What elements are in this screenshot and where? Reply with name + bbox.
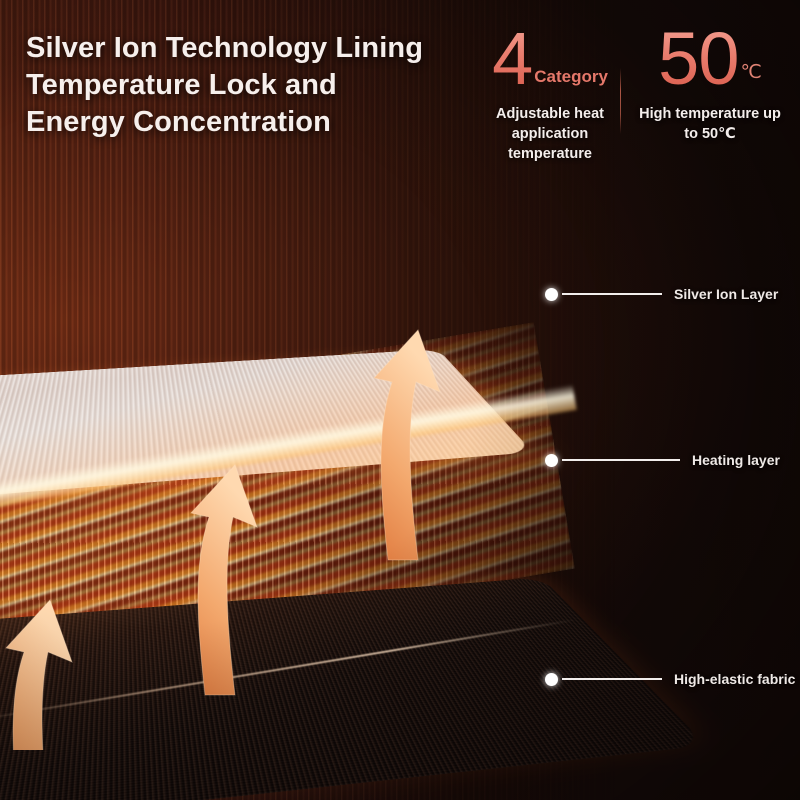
callout-leader-line [562, 293, 662, 295]
stat-suffix: ℃ [740, 61, 761, 84]
callout-high-elastic-fabric: High-elastic fabric [545, 671, 795, 687]
stats-divider [620, 68, 621, 134]
stat-block-temperature: 50 ℃ High temperature up to 50℃ [630, 22, 790, 172]
callout-heating-layer: Heating layer [545, 452, 780, 468]
callout-leader-line [562, 459, 680, 461]
callout-dot-icon [545, 288, 558, 301]
stats-row: 4 Category Adjustable heat application t… [470, 22, 790, 172]
callout-silver-ion-layer: Silver Ion Layer [545, 286, 778, 302]
stat-value-row: 4 Category [492, 22, 608, 98]
callout-label: High-elastic fabric [674, 671, 795, 687]
callout-dot-icon [545, 673, 558, 686]
callout-leader-line [562, 678, 662, 680]
stat-value: 4 [492, 22, 532, 96]
stat-value-row: 50 ℃ [658, 22, 762, 98]
callout-label: Heating layer [692, 452, 780, 468]
stat-caption: High temperature up to 50℃ [639, 104, 781, 144]
callout-dot-icon [545, 454, 558, 467]
stat-block-category: 4 Category Adjustable heat application t… [470, 22, 630, 172]
callout-label: Silver Ion Layer [674, 286, 778, 302]
stat-caption: Adjustable heat application temperature [496, 104, 604, 164]
stat-suffix: Category [534, 67, 608, 87]
stat-value: 50 [658, 22, 738, 96]
product-infographic: Silver Ion Technology Lining Temperature… [0, 0, 800, 800]
page-title: Silver Ion Technology Lining Temperature… [26, 30, 456, 141]
